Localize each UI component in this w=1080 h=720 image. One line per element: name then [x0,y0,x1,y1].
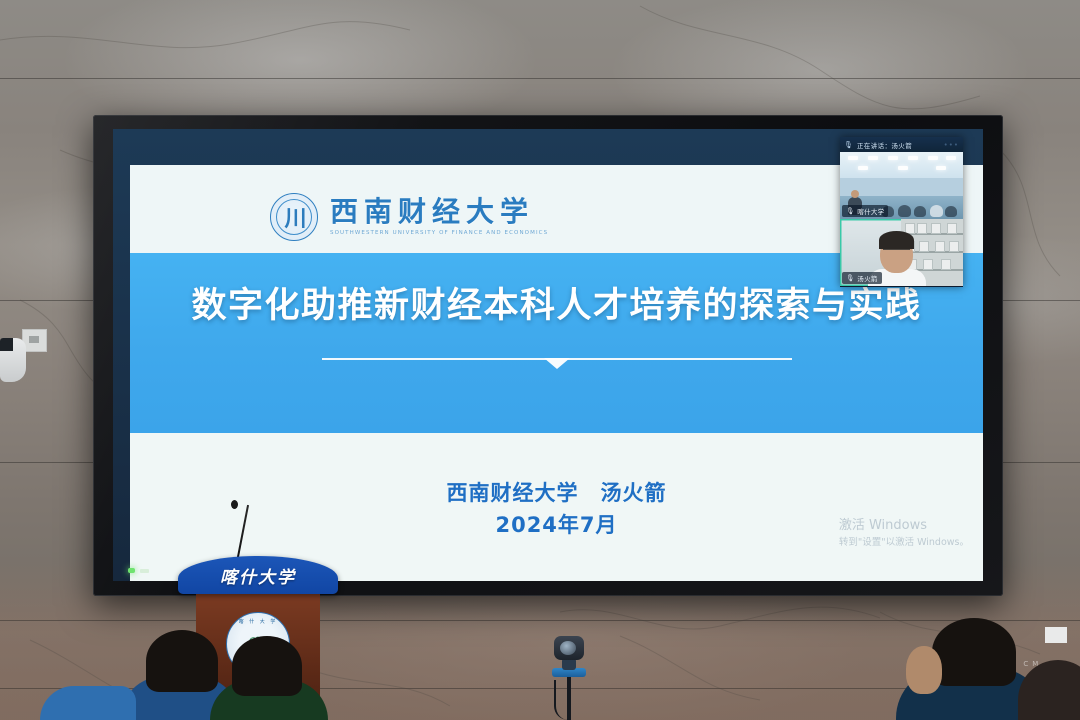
audience-member-head [232,636,302,696]
slide-divider-chevron-icon [322,358,792,360]
lectern-nameplate: 喀什大学 [178,556,338,594]
emblem-top-text: 喀 什 大 学 [227,618,289,625]
display-sensor-icon [140,569,149,573]
active-speaker-label: 正在讲话：汤火箭 [857,140,912,150]
audience-member-head [146,630,218,692]
university-name-cn: 西南财经大学 [330,198,548,226]
participant-name: 喀什大学 [857,206,884,216]
podium-microphone-head [231,500,238,509]
more-options-icon[interactable]: ••• [944,141,959,149]
windows-activation-watermark: 激活 Windows 转到"设置"以激活 Windows。 [839,517,969,550]
seal-glyph: 川 [271,194,317,240]
camera-lens-icon [560,641,576,655]
watermark-line-1: 激活 Windows [839,517,969,536]
video-tile-speaker[interactable]: 🎙 汤火箭 [840,219,963,286]
room-audience [898,205,911,217]
video-tile-room[interactable]: 🎙 喀什大学 [840,152,963,219]
wall-speaker [0,338,26,382]
wall-sign-plate [1045,627,1067,643]
active-speaker-bar: 🎙 正在讲话：汤火箭 ••• [840,137,963,152]
university-logo: 川 西南财经大学 SOUTHWESTERN UNIVERSITY OF FINA… [270,193,548,241]
speaker-glasses [883,249,910,256]
display-power-led-icon [128,568,135,573]
audience-member-shoulders [40,686,136,720]
video-conference-panel[interactable]: 🎙 正在讲话：汤火箭 ••• [840,137,963,287]
room-audience [930,205,943,217]
participant-name: 汤火箭 [857,273,877,283]
audience-member-head [932,618,1016,686]
university-name-en: SOUTHWESTERN UNIVERSITY OF FINANCE AND E… [330,231,548,237]
room-audience [914,206,926,217]
presentation-display: 川 西南财经大学 SOUTHWESTERN UNIVERSITY OF FINA… [93,115,1003,596]
video-tile-label: 🎙 喀什大学 [842,205,888,217]
display-panel: 川 西南财经大学 SOUTHWESTERN UNIVERSITY OF FINA… [113,129,983,581]
room-ceiling [840,152,963,178]
camera-cable [554,680,568,720]
microphone-icon: 🎙 [846,207,854,215]
room-audience [945,206,957,217]
video-camera-tripod [548,636,590,720]
university-seal-icon: 川 [270,193,318,241]
lectern-nameplate-text: 喀什大学 [178,563,338,588]
speaker-hair [879,231,914,249]
audience-member-hand [906,646,942,694]
microphone-icon: 🎙 [846,274,854,282]
slide-author: 西南财经大学 汤火箭 [130,477,983,507]
microphone-icon: 🎙 [844,141,853,149]
conference-room-photo: CM I N 川 西南财经大学 SOUTHWESTERN UNIVERSI [0,0,1080,720]
watermark-line-2: 转到"设置"以激活 Windows。 [839,536,969,550]
video-tile-label: 🎙 汤火箭 [842,272,882,284]
